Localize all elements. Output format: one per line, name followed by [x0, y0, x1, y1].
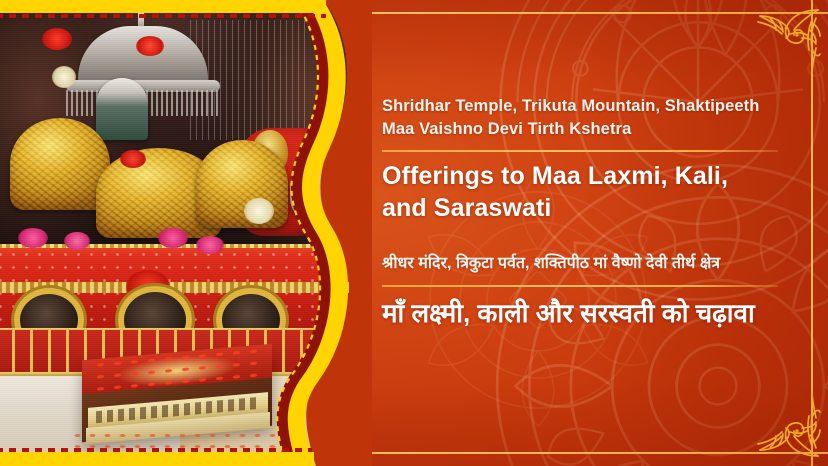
hindi-eyebrow-text: श्रीधर मंदिर, त्रिकुटा पर्वत, शक्तिपीठ म…: [382, 253, 782, 275]
english-headline: Offerings to Maa Laxmi, Kali, and Sarasw…: [382, 160, 778, 224]
promotional-banner: Shridhar Temple, Trikuta Mountain, Shakt…: [0, 0, 828, 466]
divider-hindi: [382, 285, 778, 287]
hindi-headline: माँ लक्ष्मी, काली और सरस्वती को चढ़ावा: [382, 295, 782, 332]
banner-text-column: Shridhar Temple, Trikuta Mountain, Shakt…: [382, 0, 782, 466]
english-eyebrow-text: Shridhar Temple, Trikuta Mountain, Shakt…: [382, 95, 778, 141]
divider-english: [382, 150, 778, 152]
